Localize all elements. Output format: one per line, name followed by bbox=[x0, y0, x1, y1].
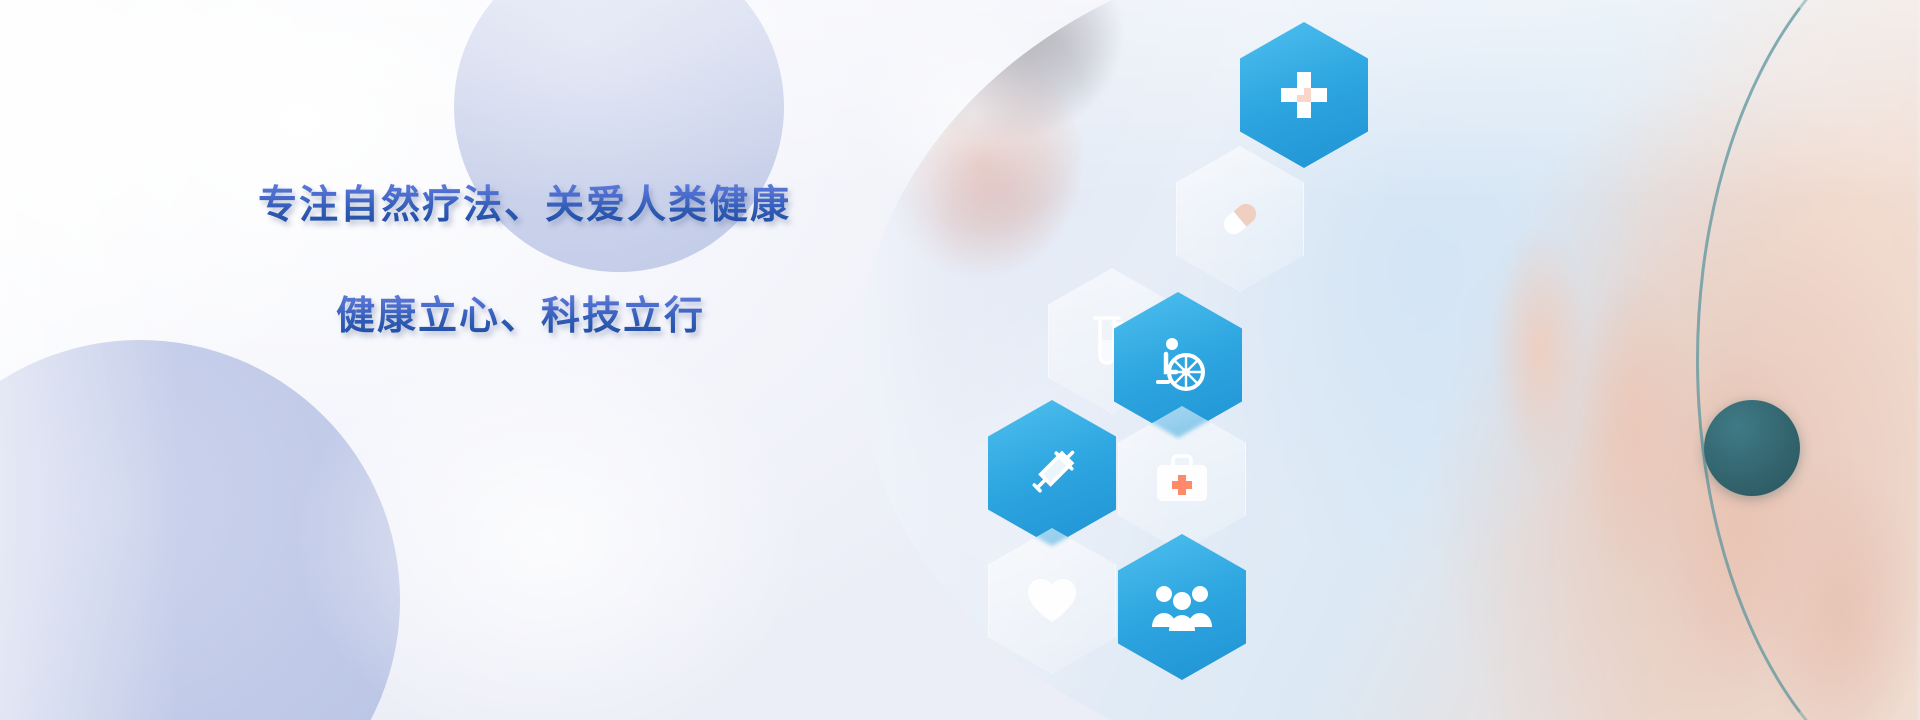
headline-block: 专注自然疗法、关爱人类健康 健康立心、科技立行 bbox=[258, 182, 878, 341]
hex-tile-first-aid-kit[interactable] bbox=[1118, 406, 1246, 552]
cross-icon-halo bbox=[860, 0, 1088, 228]
hero-banner: 专注自然疗法、关爱人类健康 健康立心、科技立行 bbox=[0, 0, 1920, 720]
heart-icon bbox=[1023, 574, 1081, 628]
hex-tile-cross[interactable] bbox=[1240, 22, 1368, 168]
slogan-line-2: 健康立心、科技立行 bbox=[336, 293, 878, 341]
hex-tile-heart[interactable] bbox=[988, 528, 1116, 674]
capsule-pill-icon bbox=[1208, 187, 1272, 251]
hex-tile-syringe[interactable] bbox=[988, 400, 1116, 546]
syringe-icon bbox=[1019, 440, 1085, 506]
medical-cross-icon bbox=[1273, 64, 1335, 126]
hex-tile-people[interactable] bbox=[1118, 534, 1246, 680]
family-people-icon bbox=[1148, 581, 1216, 633]
photo-panel bbox=[860, 0, 1920, 720]
wheelchair-icon bbox=[1146, 334, 1210, 396]
background-haze-middle bbox=[300, 330, 800, 720]
slogan-line-1: 专注自然疗法、关爱人类健康 bbox=[258, 182, 878, 230]
hexagon-icon-cluster bbox=[860, 0, 1920, 720]
first-aid-kit-icon bbox=[1151, 451, 1213, 507]
hex-tile-pill[interactable] bbox=[1176, 146, 1304, 292]
